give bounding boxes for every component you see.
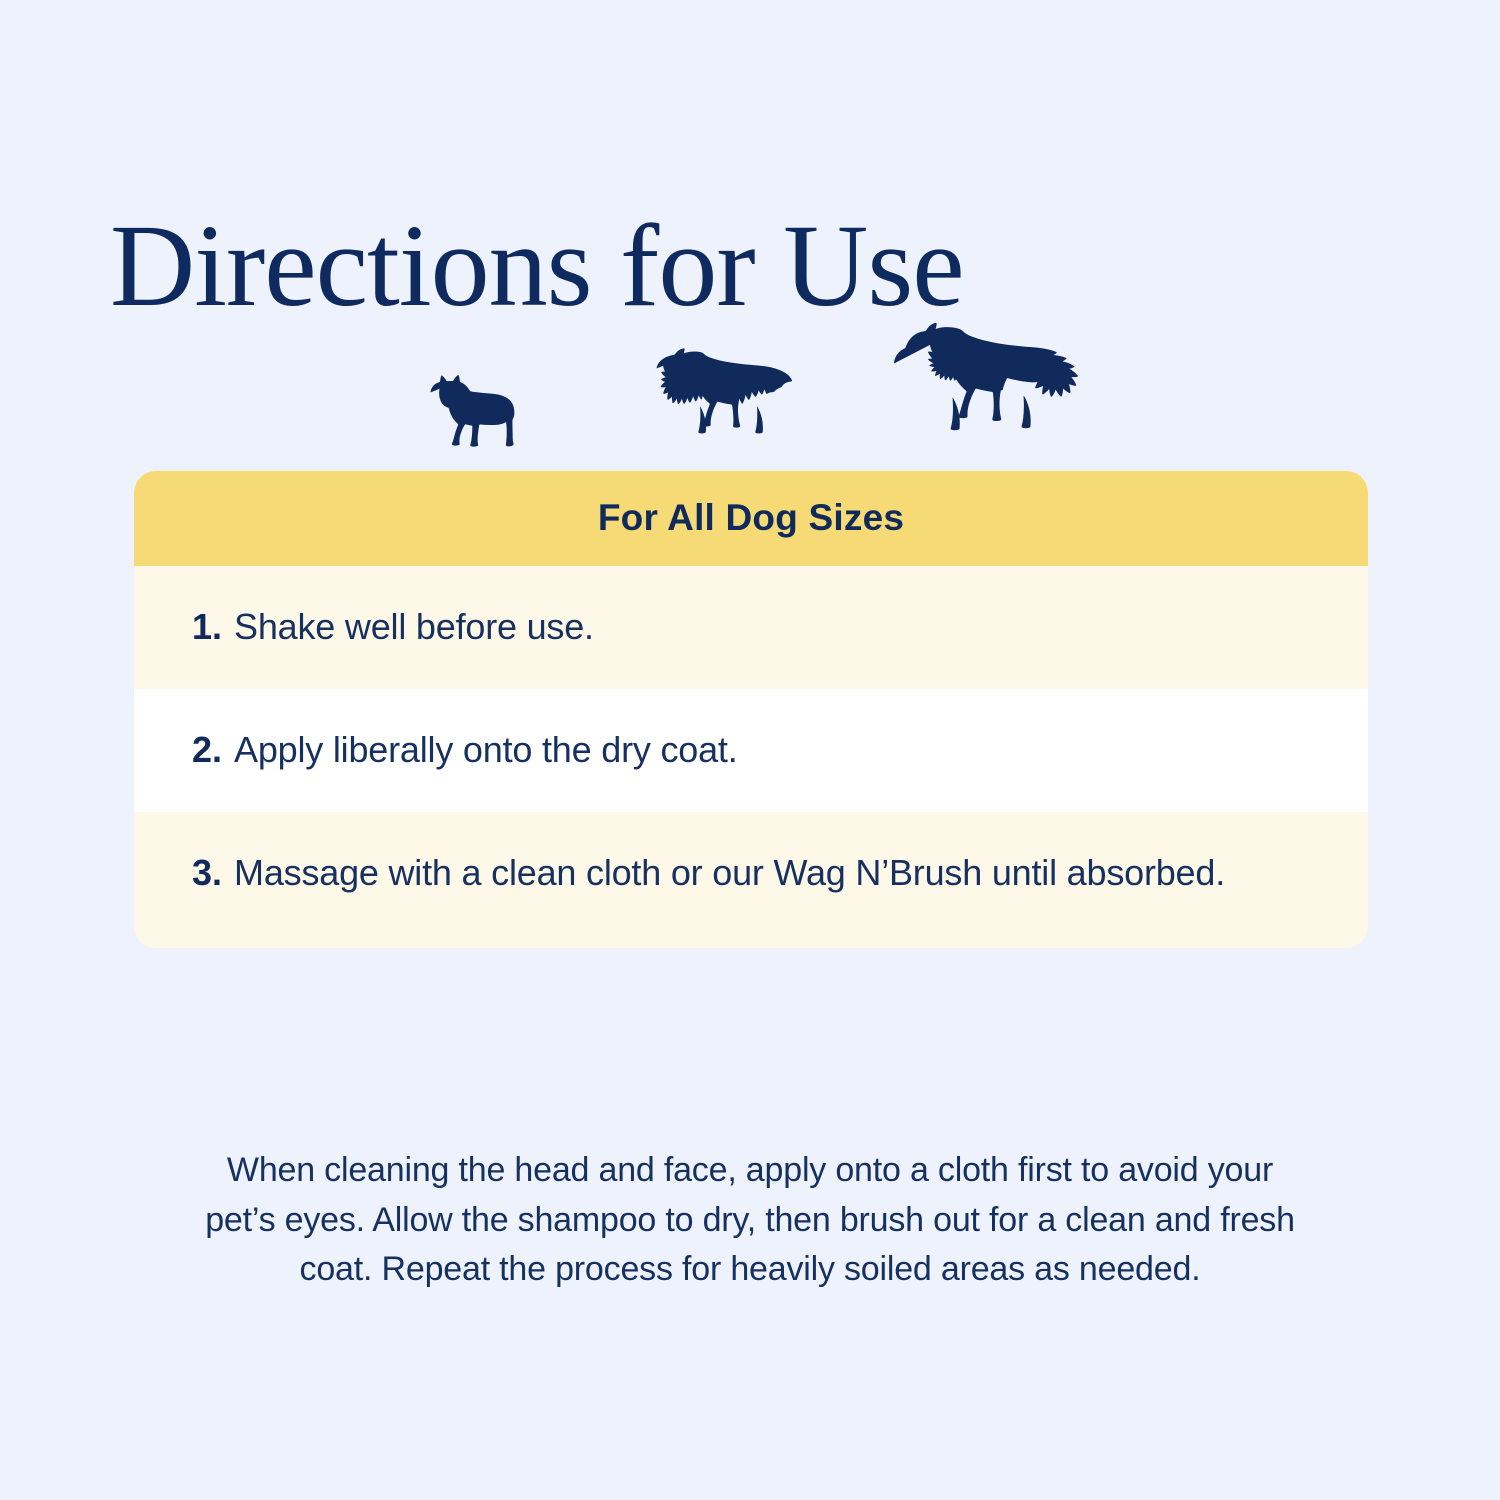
step-item-1: 1. Shake well before use.: [134, 566, 1368, 689]
footer-note: When cleaning the head and face, apply o…: [195, 1146, 1305, 1295]
step-number: 1.: [192, 604, 222, 651]
step-text: Apply liberally onto the dry coat.: [234, 727, 1308, 774]
step-item-2: 2. Apply liberally onto the dry coat.: [134, 689, 1368, 812]
card-header: For All Dog Sizes: [134, 471, 1368, 566]
step-text: Massage with a clean cloth or our Wag N’…: [234, 850, 1308, 897]
step-item-3: 3. Massage with a clean cloth or our Wag…: [134, 812, 1368, 949]
step-text: Shake well before use.: [234, 604, 1308, 651]
directions-card: For All Dog Sizes 1. Shake well before u…: [134, 471, 1368, 948]
card-header-title: For All Dog Sizes: [598, 497, 904, 538]
dog-size-illustration: [0, 300, 1500, 450]
small-dog-silhouette-icon: [418, 374, 518, 450]
step-number: 3.: [192, 850, 222, 897]
step-number: 2.: [192, 727, 222, 774]
directions-for-use-panel: Directions for Use For All Dog Sizes: [0, 0, 1500, 1500]
large-dog-silhouette-icon: [888, 322, 1084, 450]
medium-dog-silhouette-icon: [648, 344, 794, 450]
